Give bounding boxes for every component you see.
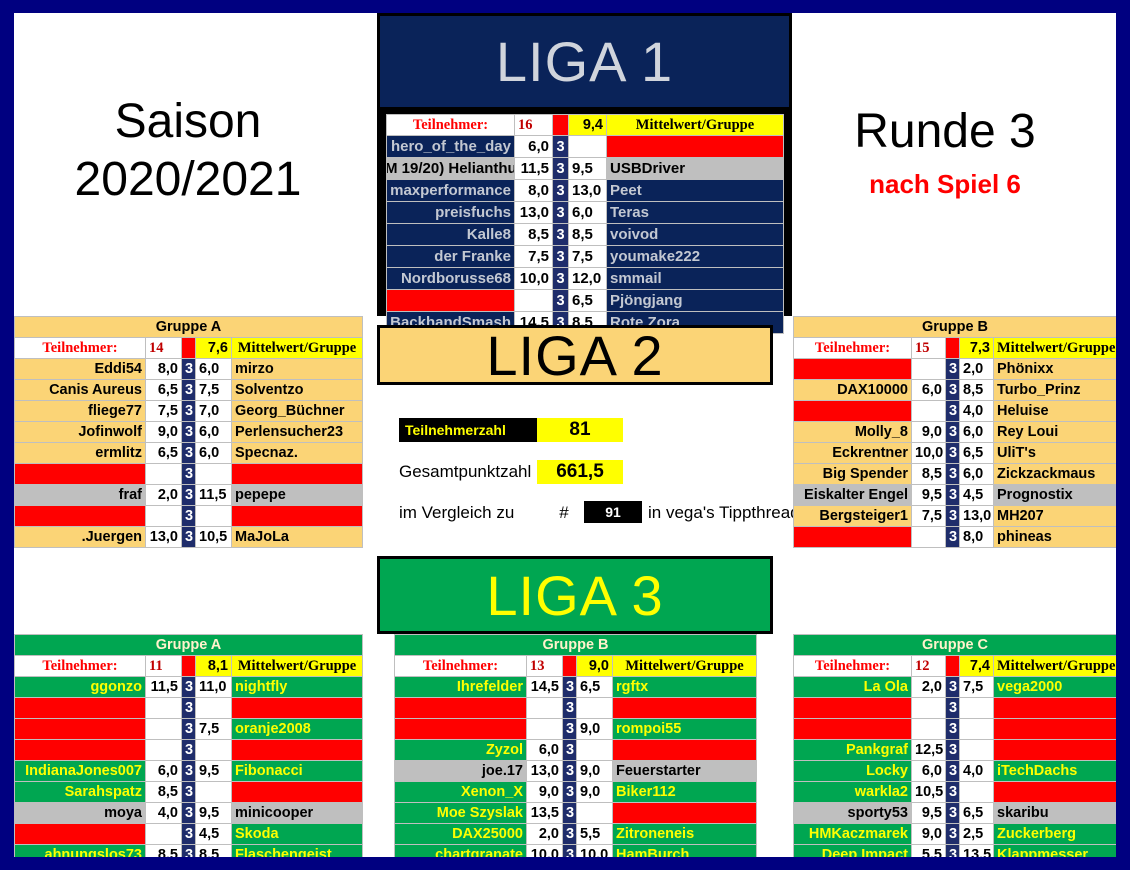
left-player-score: 9,5 xyxy=(912,485,946,506)
right-player-name: nightfly xyxy=(232,677,363,698)
left-player-score: 8,0 xyxy=(146,359,182,380)
round-number-cell: 3 xyxy=(553,158,569,180)
table-row: 3 xyxy=(15,698,363,719)
left-player-score xyxy=(912,719,946,740)
left-player-name xyxy=(15,464,146,485)
participants-label: Teilnehmer: xyxy=(387,115,515,136)
table-row: 34,0Heluise xyxy=(794,401,1117,422)
left-player-score: 13,0 xyxy=(515,202,553,224)
left-player-score: 4,0 xyxy=(146,803,182,824)
left-player-name: Nordborusse68 xyxy=(387,268,515,290)
table-row: La Ola2,037,5vega2000 xyxy=(794,677,1117,698)
table-row: ggonzo11,5311,0nightfly xyxy=(15,677,363,698)
left-player-name: Big Spender xyxy=(794,464,912,485)
right-player-score: 7,0 xyxy=(196,401,232,422)
right-player-score: 4,5 xyxy=(196,824,232,845)
right-player-score: 11,0 xyxy=(196,677,232,698)
round-number-cell: 3 xyxy=(182,422,196,443)
right-player-score: 5,5 xyxy=(577,824,613,845)
right-player-score: 4,5 xyxy=(960,485,994,506)
table-row: Canis Aureus6,537,5Solventzo xyxy=(15,380,363,401)
table-row: 36,5Pjöngjang xyxy=(387,290,784,312)
right-player-name: Klappmesser xyxy=(994,845,1117,858)
table-row: chartgranate10,0310,0HamBurch xyxy=(395,845,757,858)
left-player-score xyxy=(912,527,946,548)
round-number-cell: 3 xyxy=(946,740,960,761)
left-player-name: Kalle8 xyxy=(387,224,515,246)
left-player-name: Molly_8 xyxy=(794,422,912,443)
hash-symbol: # xyxy=(554,501,574,525)
right-player-name: Pjöngjang xyxy=(607,290,784,312)
left-player-score xyxy=(146,719,182,740)
left-player-name: DAX10000 xyxy=(794,380,912,401)
left-player-name: joe.17 xyxy=(395,761,527,782)
participants-header-row: Teilnehmer:157,3Mittelwert/Gruppe xyxy=(794,338,1117,359)
right-player-name xyxy=(613,740,757,761)
right-player-name: Zitroneneis xyxy=(613,824,757,845)
left-player-score: 7,5 xyxy=(515,246,553,268)
right-player-score: 6,0 xyxy=(569,202,607,224)
right-player-score: 6,5 xyxy=(569,290,607,312)
left-player-score xyxy=(146,464,182,485)
liga1-banner: LIGA 1 xyxy=(377,13,792,110)
liga1-table: Teilnehmer:169,4Mittelwert/Gruppehero_of… xyxy=(386,114,784,334)
right-player-name: minicooper xyxy=(232,803,363,824)
page-frame: Saison 2020/2021 Runde 3 nach Spiel 6 LI… xyxy=(0,0,1130,870)
right-player-name: MaJoLa xyxy=(232,527,363,548)
participants-label: Teilnehmer: xyxy=(15,338,146,359)
participants-header-row: Teilnehmer:169,4Mittelwert/Gruppe xyxy=(387,115,784,136)
gesamtpunktzahl-label-text: Gesamtpunktzahl xyxy=(399,462,531,482)
round-number-cell: 3 xyxy=(946,443,960,464)
right-player-score: 13,5 xyxy=(960,845,994,858)
left-player-name: Ihrefelder xyxy=(395,677,527,698)
table-row: .Juergen13,0310,5MaJoLa xyxy=(15,527,363,548)
liga2-b-group-header-row: Gruppe B xyxy=(794,317,1117,338)
liga2-gruppe-a: Gruppe A Teilnehmer:147,6Mittelwert/Grup… xyxy=(14,316,362,550)
right-player-score xyxy=(569,136,607,158)
right-player-name: rompoi55 xyxy=(613,719,757,740)
right-player-name: Flaschengeist xyxy=(232,845,363,858)
left-player-name: fraf xyxy=(15,485,146,506)
right-player-score: 6,5 xyxy=(960,443,994,464)
left-player-name: Eckrentner xyxy=(794,443,912,464)
liga3-a-group-header-row: Gruppe A xyxy=(15,635,363,656)
round-number-cell: 3 xyxy=(563,845,577,858)
right-player-name: rgftx xyxy=(613,677,757,698)
right-player-score xyxy=(960,782,994,803)
left-player-score: 10,5 xyxy=(912,782,946,803)
left-player-score: 13,0 xyxy=(527,761,563,782)
right-player-name xyxy=(232,506,363,527)
right-player-score xyxy=(577,740,613,761)
left-player-score: 6,5 xyxy=(146,443,182,464)
table-row: Eddi548,036,0mirzo xyxy=(15,359,363,380)
left-player-name: Eddi54 xyxy=(15,359,146,380)
left-player-score: 2,0 xyxy=(527,824,563,845)
group-average-value: 9,4 xyxy=(569,115,607,136)
table-row: 34,5Skoda xyxy=(15,824,363,845)
left-player-score: 13,5 xyxy=(527,803,563,824)
liga2-a-group-header-row: Gruppe A xyxy=(15,317,363,338)
round-number-cell: 3 xyxy=(182,677,196,698)
liga3-c-group-title: Gruppe C xyxy=(794,635,1117,656)
left-player-name: HMKaczmarek xyxy=(794,824,912,845)
left-player-score: 6,0 xyxy=(527,740,563,761)
participants-header-row: Teilnehmer:147,6Mittelwert/Gruppe xyxy=(15,338,363,359)
participants-count: 13 xyxy=(527,656,563,677)
right-player-name: Skoda xyxy=(232,824,363,845)
left-player-name: ahnungslos73 xyxy=(15,845,146,858)
right-player-score: 6,5 xyxy=(960,803,994,824)
liga3-banner: LIGA 3 xyxy=(377,556,773,634)
round-number-cell: 3 xyxy=(553,180,569,202)
table-row: sporty539,536,5skaribu xyxy=(794,803,1117,824)
left-player-name: Sarahspatz xyxy=(15,782,146,803)
table-row: DAX100006,038,5Turbo_Prinz xyxy=(794,380,1117,401)
right-player-score: 12,0 xyxy=(569,268,607,290)
left-player-name xyxy=(15,740,146,761)
table-row: 3 xyxy=(15,740,363,761)
right-player-score: 4,0 xyxy=(960,401,994,422)
left-player-name: Locky xyxy=(794,761,912,782)
liga3-gruppe-c-table: Gruppe C Teilnehmer:127,4Mittelwert/Grup… xyxy=(793,634,1116,857)
round-number-cell: 3 xyxy=(182,359,196,380)
liga2-gruppe-b: Gruppe B Teilnehmer:157,3Mittelwert/Grup… xyxy=(793,316,1116,550)
table-row: 39,0rompoi55 xyxy=(395,719,757,740)
teilnehmerzahl-label: Teilnehmerzahl xyxy=(399,418,537,442)
liga3-gruppe-b-table: Gruppe B Teilnehmer:139,0Mittelwert/Grup… xyxy=(394,634,757,857)
left-player-name xyxy=(794,698,912,719)
table-row: joe.1713,039,0Feuerstarter xyxy=(395,761,757,782)
left-player-score xyxy=(912,698,946,719)
left-player-name: (M 19/20) Helianthus xyxy=(387,158,515,180)
table-row: Nordborusse6810,0312,0smmail xyxy=(387,268,784,290)
right-player-name: USBDriver xyxy=(607,158,784,180)
round-number-cell: 3 xyxy=(946,485,960,506)
teilnehmerzahl-label-text: Teilnehmerzahl xyxy=(405,422,506,438)
right-player-name: Specnaz. xyxy=(232,443,363,464)
right-player-score: 2,5 xyxy=(960,824,994,845)
round-number-cell: 3 xyxy=(563,719,577,740)
round-number-cell: 3 xyxy=(946,761,960,782)
right-player-score: 9,5 xyxy=(196,761,232,782)
left-player-name: IndianaJones007 xyxy=(15,761,146,782)
left-player-score: 11,5 xyxy=(146,677,182,698)
table-row: moya4,039,5minicooper xyxy=(15,803,363,824)
right-player-name xyxy=(232,782,363,803)
left-player-score: 9,5 xyxy=(912,803,946,824)
table-row: Kalle88,538,5voivod xyxy=(387,224,784,246)
left-player-name: Moe Szyslak xyxy=(395,803,527,824)
right-player-score xyxy=(196,464,232,485)
group-average-label: Mittelwert/Gruppe xyxy=(607,115,784,136)
gesamtpunktzahl-value: 661,5 xyxy=(537,460,623,484)
table-row: 3 xyxy=(395,698,757,719)
right-player-score: 13,0 xyxy=(960,506,994,527)
round-number-cell: 3 xyxy=(563,698,577,719)
left-player-name: hero_of_the_day xyxy=(387,136,515,158)
right-player-score: 7,5 xyxy=(196,380,232,401)
table-row: maxperformance8,0313,0Peet xyxy=(387,180,784,202)
right-player-score: 8,5 xyxy=(569,224,607,246)
round-number-cell: 3 xyxy=(563,761,577,782)
table-row: Locky6,034,0iTechDachs xyxy=(794,761,1117,782)
table-row: 3 xyxy=(15,506,363,527)
participants-count: 16 xyxy=(515,115,553,136)
right-player-name: Georg_Büchner xyxy=(232,401,363,422)
right-player-score: 6,0 xyxy=(196,359,232,380)
liga2-gruppe-a-table: Gruppe A Teilnehmer:147,6Mittelwert/Grup… xyxy=(14,316,363,548)
right-player-name: Prognostix xyxy=(994,485,1117,506)
right-player-name: Zuckerberg xyxy=(994,824,1117,845)
left-player-name xyxy=(794,719,912,740)
right-player-name: MH207 xyxy=(994,506,1117,527)
left-player-name: Canis Aureus xyxy=(15,380,146,401)
right-player-name xyxy=(613,698,757,719)
left-player-name: ermlitz xyxy=(15,443,146,464)
left-player-name: .Juergen xyxy=(15,527,146,548)
right-player-score: 9,0 xyxy=(577,782,613,803)
left-player-score: 8,0 xyxy=(515,180,553,202)
round-number-cell: 3 xyxy=(182,443,196,464)
round-number-cell: 3 xyxy=(553,290,569,312)
left-player-score: 9,0 xyxy=(912,824,946,845)
right-player-score: 6,0 xyxy=(960,464,994,485)
right-player-name: iTechDachs xyxy=(994,761,1117,782)
right-player-name: Turbo_Prinz xyxy=(994,380,1117,401)
right-player-name: skaribu xyxy=(994,803,1117,824)
table-row: Deep Impact5,5313,5Klappmesser xyxy=(794,845,1117,858)
round-number-cell: 3 xyxy=(182,380,196,401)
round-number-cell: 3 xyxy=(946,677,960,698)
liga3-banner-label: LIGA 3 xyxy=(486,563,663,628)
right-player-name: pepepe xyxy=(232,485,363,506)
round-number-cell: 3 xyxy=(182,464,196,485)
left-player-score: 14,5 xyxy=(527,677,563,698)
round-number-cell: 3 xyxy=(563,824,577,845)
participants-label: Teilnehmer: xyxy=(794,656,912,677)
right-player-name: Perlensucher23 xyxy=(232,422,363,443)
participants-count: 12 xyxy=(912,656,946,677)
right-player-name xyxy=(994,698,1117,719)
left-player-score: 6,0 xyxy=(912,380,946,401)
round-number-cell: 3 xyxy=(563,677,577,698)
table-row: Molly_89,036,0Rey Loui xyxy=(794,422,1117,443)
right-player-name xyxy=(607,136,784,158)
group-average-label: Mittelwert/Gruppe xyxy=(613,656,757,677)
participants-label: Teilnehmer: xyxy=(395,656,527,677)
group-average-label: Mittelwert/Gruppe xyxy=(232,656,363,677)
right-player-score: 8,0 xyxy=(960,527,994,548)
season-heading: Saison 2020/2021 xyxy=(14,93,362,233)
table-row: Sarahspatz8,53 xyxy=(15,782,363,803)
table-row: preisfuchs13,036,0Teras xyxy=(387,202,784,224)
group-average-label: Mittelwert/Gruppe xyxy=(232,338,363,359)
left-player-name: Xenon_X xyxy=(395,782,527,803)
right-player-score: 10,0 xyxy=(577,845,613,858)
left-player-score: 6,5 xyxy=(146,380,182,401)
table-row: 3 xyxy=(15,464,363,485)
round-number-cell: 3 xyxy=(182,485,196,506)
group-average-label: Mittelwert/Gruppe xyxy=(994,656,1117,677)
round-number-cell: 3 xyxy=(182,401,196,422)
left-player-name: moya xyxy=(15,803,146,824)
right-player-score: 7,5 xyxy=(960,677,994,698)
round-number-cell: 3 xyxy=(553,224,569,246)
round-number-cell: 3 xyxy=(946,803,960,824)
right-player-name xyxy=(613,803,757,824)
teilnehmerzahl-value-text: 81 xyxy=(569,419,590,441)
table-row: HMKaczmarek9,032,5Zuckerberg xyxy=(794,824,1117,845)
left-player-score: 13,0 xyxy=(146,527,182,548)
left-player-name: chartgranate xyxy=(395,845,527,858)
round-number-cell: 3 xyxy=(182,824,196,845)
right-player-score xyxy=(196,698,232,719)
liga3-gruppe-a: Gruppe A Teilnehmer:118,1Mittelwert/Grup… xyxy=(14,634,362,857)
table-row: hero_of_the_day6,03 xyxy=(387,136,784,158)
right-player-score xyxy=(196,506,232,527)
table-row: Ihrefelder14,536,5rgftx xyxy=(395,677,757,698)
participants-header-row: Teilnehmer:127,4Mittelwert/Gruppe xyxy=(794,656,1117,677)
round-number-cell: 3 xyxy=(946,527,960,548)
participants-header-row: Teilnehmer:139,0Mittelwert/Gruppe xyxy=(395,656,757,677)
participants-header-row: Teilnehmer:118,1Mittelwert/Gruppe xyxy=(15,656,363,677)
table-row: der Franke7,537,5youmake222 xyxy=(387,246,784,268)
liga2-a-group-title: Gruppe A xyxy=(15,317,363,338)
right-player-name: Solventzo xyxy=(232,380,363,401)
right-player-name xyxy=(994,719,1117,740)
left-player-name: der Franke xyxy=(387,246,515,268)
left-player-name: maxperformance xyxy=(387,180,515,202)
season-line-1: Saison xyxy=(14,93,362,151)
left-player-score xyxy=(527,698,563,719)
round-number-cell: 3 xyxy=(946,359,960,380)
gesamtpunktzahl-label: Gesamtpunktzahl xyxy=(399,460,537,484)
vergleich-value: 91 xyxy=(584,501,642,523)
teilnehmerzahl-value: 81 xyxy=(537,418,623,442)
table-row: fraf2,0311,5pepepe xyxy=(15,485,363,506)
right-player-name xyxy=(232,464,363,485)
participants-count: 11 xyxy=(146,656,182,677)
right-player-score: 9,0 xyxy=(577,761,613,782)
left-player-name xyxy=(15,698,146,719)
left-player-score xyxy=(515,290,553,312)
round-number-cell: 3 xyxy=(182,740,196,761)
left-player-name xyxy=(794,527,912,548)
vergleich-value-text: 91 xyxy=(605,504,621,520)
left-player-score: 6,0 xyxy=(146,761,182,782)
right-player-name: UliT's xyxy=(994,443,1117,464)
liga2-b-group-title: Gruppe B xyxy=(794,317,1117,338)
participants-count: 15 xyxy=(912,338,946,359)
round-number-cell: 3 xyxy=(946,782,960,803)
right-player-name xyxy=(994,740,1117,761)
right-player-score: 6,0 xyxy=(196,443,232,464)
right-player-score: 9,5 xyxy=(196,803,232,824)
left-player-name xyxy=(15,719,146,740)
left-player-score: 7,5 xyxy=(912,506,946,527)
left-player-name: DAX25000 xyxy=(395,824,527,845)
right-player-score: 8,5 xyxy=(196,845,232,858)
right-player-score xyxy=(960,740,994,761)
header-red-spacer xyxy=(563,656,577,677)
left-player-score: 10,0 xyxy=(912,443,946,464)
table-row: 3 xyxy=(794,698,1117,719)
table-row: 32,0Phönixx xyxy=(794,359,1117,380)
round-number-cell: 3 xyxy=(182,803,196,824)
right-player-name: Zickzackmaus xyxy=(994,464,1117,485)
round-number-cell: 3 xyxy=(553,202,569,224)
left-player-score: 6,0 xyxy=(912,761,946,782)
round-number-cell: 3 xyxy=(946,380,960,401)
right-player-score: 7,5 xyxy=(196,719,232,740)
left-player-score xyxy=(146,740,182,761)
left-player-score: 8,5 xyxy=(146,782,182,803)
right-player-score xyxy=(196,740,232,761)
round-number-cell: 3 xyxy=(946,824,960,845)
left-player-name xyxy=(395,719,527,740)
left-player-score: 9,0 xyxy=(527,782,563,803)
right-player-name: smmail xyxy=(607,268,784,290)
right-player-name xyxy=(994,782,1117,803)
left-player-score xyxy=(527,719,563,740)
round-number-cell: 3 xyxy=(946,698,960,719)
group-average-value: 7,6 xyxy=(196,338,232,359)
right-player-name: oranje2008 xyxy=(232,719,363,740)
round-number-cell: 3 xyxy=(563,803,577,824)
left-player-score: 8,5 xyxy=(912,464,946,485)
table-row: Pankgraf12,53 xyxy=(794,740,1117,761)
right-player-score xyxy=(196,782,232,803)
left-player-name: Pankgraf xyxy=(794,740,912,761)
right-player-score: 4,0 xyxy=(960,761,994,782)
group-average-value: 7,3 xyxy=(960,338,994,359)
left-player-name: warkla2 xyxy=(794,782,912,803)
round-title: Runde 3 xyxy=(774,103,1116,161)
left-player-score: 11,5 xyxy=(515,158,553,180)
vergleich-label: im Vergleich zu xyxy=(399,501,539,525)
left-player-score: 8,5 xyxy=(146,845,182,858)
round-number-cell: 3 xyxy=(182,782,196,803)
round-number-cell: 3 xyxy=(946,422,960,443)
left-player-name xyxy=(794,401,912,422)
right-player-score: 6,0 xyxy=(960,422,994,443)
left-player-name: Eiskalter Engel xyxy=(794,485,912,506)
left-player-score: 9,0 xyxy=(912,422,946,443)
right-player-name: Teras xyxy=(607,202,784,224)
table-row: 38,0phineas xyxy=(794,527,1117,548)
liga3-b-group-title: Gruppe B xyxy=(395,635,757,656)
participants-label: Teilnehmer: xyxy=(15,656,146,677)
right-player-score: 6,0 xyxy=(196,422,232,443)
round-number-cell: 3 xyxy=(553,268,569,290)
left-player-score: 2,0 xyxy=(146,485,182,506)
right-player-name: HamBurch xyxy=(613,845,757,858)
right-player-score xyxy=(577,803,613,824)
right-player-score: 9,5 xyxy=(569,158,607,180)
right-player-name: youmake222 xyxy=(607,246,784,268)
left-player-score xyxy=(146,698,182,719)
participants-count: 14 xyxy=(146,338,182,359)
liga3-b-group-header-row: Gruppe B xyxy=(395,635,757,656)
table-row: ermlitz6,536,0Specnaz. xyxy=(15,443,363,464)
table-row: fliege777,537,0Georg_Büchner xyxy=(15,401,363,422)
right-player-name: Peet xyxy=(607,180,784,202)
right-player-score: 6,5 xyxy=(577,677,613,698)
left-player-score: 6,0 xyxy=(515,136,553,158)
left-player-score: 12,5 xyxy=(912,740,946,761)
